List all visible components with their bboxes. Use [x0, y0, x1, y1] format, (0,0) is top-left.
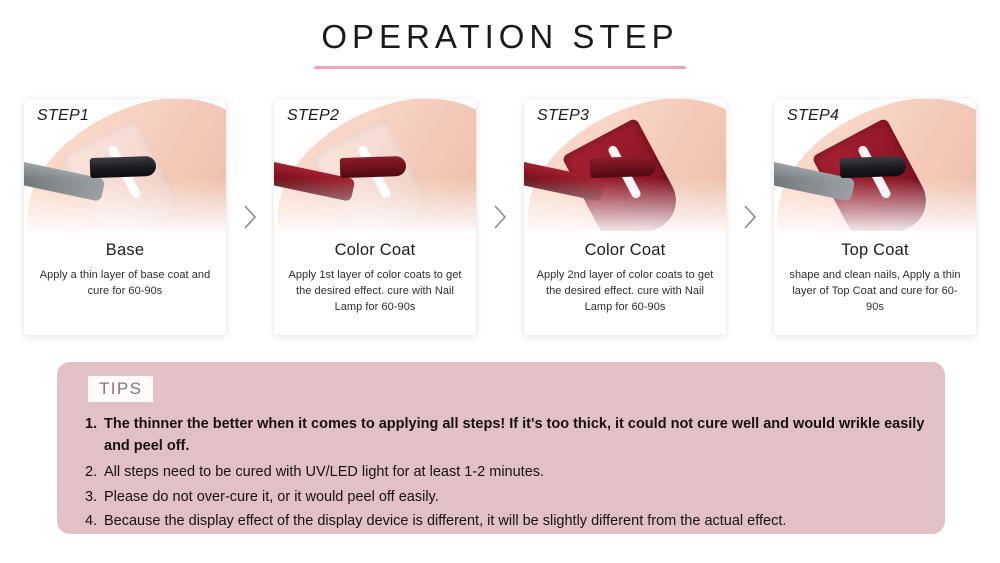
step-desc-1: Apply a thin layer of base coat and cure…	[34, 267, 216, 299]
step-body-3: Color Coat Apply 2nd layer of color coat…	[524, 231, 726, 315]
step-body-1: Base Apply a thin layer of base coat and…	[24, 231, 226, 299]
step-heading-3: Color Coat	[534, 241, 716, 260]
brush-tip	[90, 156, 157, 178]
chevron-right-icon	[243, 204, 258, 230]
tip-item-4: 4. Because the display effect of the dis…	[85, 511, 933, 533]
chevron-right-icon	[743, 204, 758, 230]
step-heading-1: Base	[34, 241, 216, 260]
step-label-2: STEP2	[287, 107, 339, 125]
step-body-2: Color Coat Apply 1st layer of color coat…	[274, 231, 476, 315]
steps-row: STEP1 Base Apply a thin layer of base co…	[24, 99, 976, 335]
step-photo-4: STEP4	[774, 99, 976, 231]
step-arrow-3	[742, 99, 758, 335]
page-title: OPERATION STEP	[0, 16, 1000, 58]
step-photo-1: STEP1	[24, 99, 226, 231]
step-desc-2: Apply 1st layer of color coats to get th…	[284, 267, 466, 315]
step-label-4: STEP4	[787, 107, 839, 125]
step-label-3: STEP3	[537, 107, 589, 125]
step-card-4[interactable]: STEP4 Top Coat shape and clean nails, Ap…	[774, 99, 976, 335]
step-body-4: Top Coat shape and clean nails, Apply a …	[774, 231, 976, 315]
tip-number-2: 2.	[85, 462, 104, 484]
step-photo-2: STEP2	[274, 99, 476, 231]
step-desc-4: shape and clean nails, Apply a thin laye…	[784, 267, 966, 315]
chevron-right-icon	[493, 204, 508, 230]
brush-tip	[340, 156, 407, 178]
tips-panel: TIPS 1. The thinner the better when it c…	[57, 362, 945, 534]
tip-text-2: All steps need to be cured with UV/LED l…	[104, 462, 933, 484]
tip-text-1: The thinner the better when it comes to …	[104, 414, 933, 457]
tip-number-4: 4.	[85, 511, 104, 533]
step-photo-3: STEP3	[524, 99, 726, 231]
step-heading-2: Color Coat	[284, 241, 466, 260]
step-card-1[interactable]: STEP1 Base Apply a thin layer of base co…	[24, 99, 226, 335]
title-underline	[314, 66, 686, 69]
tip-item-1: 1. The thinner the better when it comes …	[85, 414, 933, 457]
tips-badge: TIPS	[88, 376, 153, 402]
step-arrow-1	[242, 99, 258, 335]
brush-tip	[840, 156, 907, 178]
brush-tip	[590, 156, 657, 178]
step-desc-3: Apply 2nd layer of color coats to get th…	[534, 267, 716, 315]
tip-number-3: 3.	[85, 487, 104, 509]
tip-text-3: Please do not over-cure it, or it would …	[104, 487, 933, 509]
tip-item-2: 2. All steps need to be cured with UV/LE…	[85, 462, 933, 484]
step-heading-4: Top Coat	[784, 241, 966, 260]
step-card-3[interactable]: STEP3 Color Coat Apply 2nd layer of colo…	[524, 99, 726, 335]
tip-item-3: 3. Please do not over-cure it, or it wou…	[85, 487, 933, 509]
step-card-2[interactable]: STEP2 Color Coat Apply 1st layer of colo…	[274, 99, 476, 335]
tip-number-1: 1.	[85, 414, 104, 436]
step-arrow-2	[492, 99, 508, 335]
page-header: OPERATION STEP	[0, 16, 1000, 69]
tip-text-4: Because the display effect of the displa…	[104, 511, 933, 533]
tips-list: 1. The thinner the better when it comes …	[85, 414, 933, 536]
step-label-1: STEP1	[37, 107, 89, 125]
